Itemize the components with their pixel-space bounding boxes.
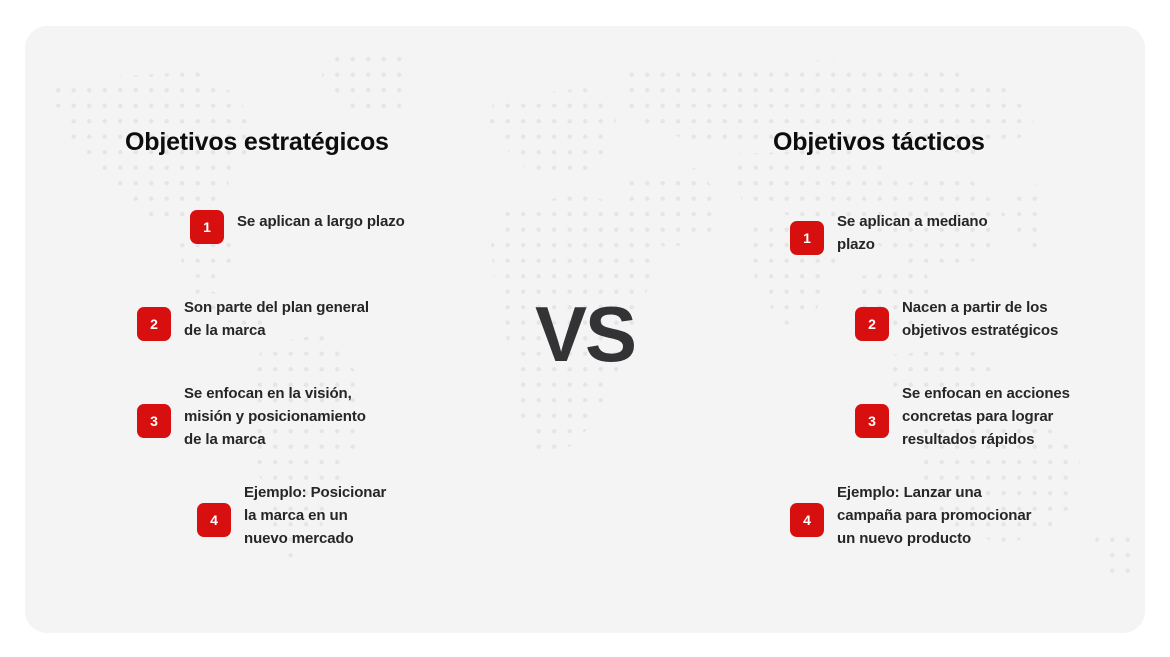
column-title-tacticos: Objetivos tácticos: [773, 130, 985, 155]
list-item: 4 Ejemplo: Lanzar una campaña para promo…: [790, 481, 1031, 550]
item-text: Se aplican a mediano plazo: [837, 210, 988, 257]
list-item: 2 Nacen a partir de los objetivos estrat…: [855, 296, 1058, 343]
item-number-badge: 3: [855, 404, 889, 438]
item-text: Se aplican a largo plazo: [237, 210, 405, 234]
list-item: 3 Se enfocan en acciones concretas para …: [855, 382, 1070, 451]
item-text: Se enfocan en acciones concretas para lo…: [902, 382, 1070, 451]
item-number-badge: 1: [190, 210, 224, 244]
item-text: Ejemplo: Lanzar una campaña para promoci…: [837, 481, 1031, 550]
list-item: 4 Ejemplo: Posicionar la marca en un nue…: [197, 481, 386, 550]
item-number-badge: 3: [137, 404, 171, 438]
list-item: 1 Se aplican a mediano plazo: [790, 210, 988, 257]
list-item: 1 Se aplican a largo plazo: [190, 210, 405, 244]
item-number-badge: 1: [790, 221, 824, 255]
item-text: Ejemplo: Posicionar la marca en un nuevo…: [244, 481, 386, 550]
column-title-estrategicos: Objetivos estratégicos: [125, 130, 389, 155]
item-text: Se enfocan en la visión, misión y posici…: [184, 382, 366, 451]
item-number-badge: 4: [790, 503, 824, 537]
item-number-badge: 4: [197, 503, 231, 537]
list-item: 3 Se enfocan en la visión, misión y posi…: [137, 382, 366, 451]
item-text: Nacen a partir de los objetivos estratég…: [902, 296, 1058, 343]
item-number-badge: 2: [855, 307, 889, 341]
infographic-card: Objetivos estratégicos 1 Se aplican a la…: [25, 26, 1145, 633]
column-objetivos-tacticos: Objetivos tácticos 1 Se aplican a median…: [730, 26, 1145, 633]
